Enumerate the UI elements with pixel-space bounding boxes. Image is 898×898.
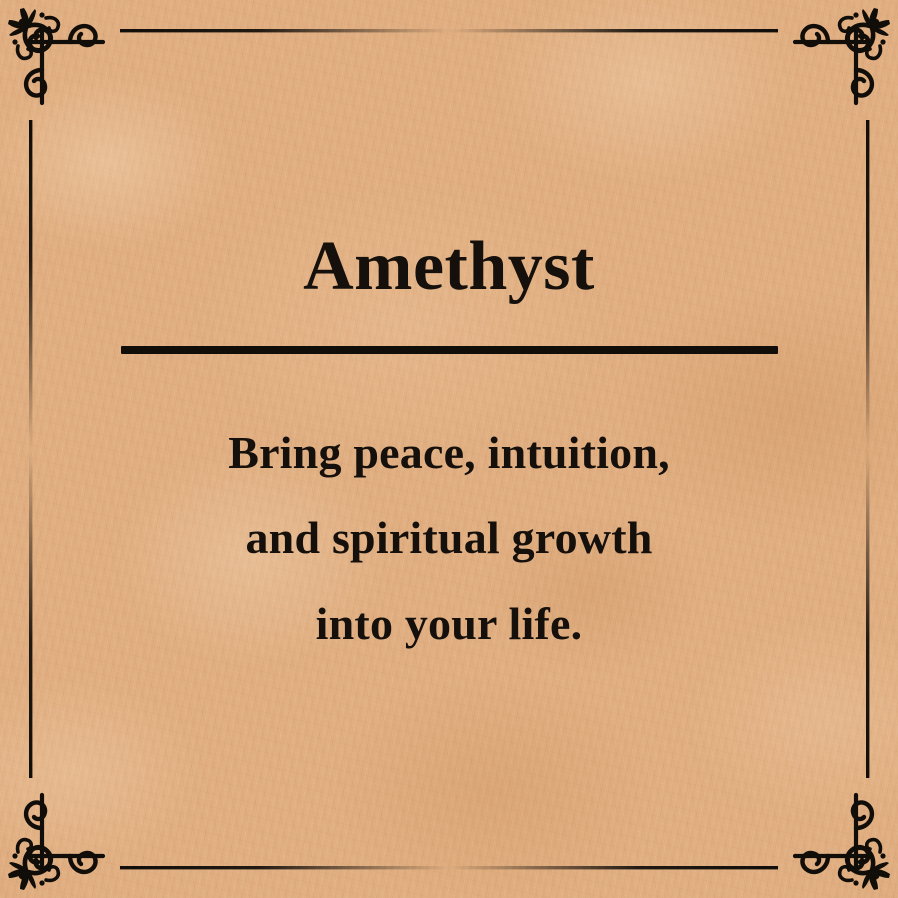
affirmation-card: Amethyst Bring peace, intuition, and spi… xyxy=(0,0,898,898)
affirmation-text: Bring peace, intuition, and spiritual gr… xyxy=(228,410,670,665)
affirmation-line-1: Bring peace, intuition, xyxy=(228,410,670,495)
page-title: Amethyst xyxy=(303,232,595,302)
card-content: Amethyst Bring peace, intuition, and spi… xyxy=(0,0,898,898)
title-divider xyxy=(121,346,778,354)
affirmation-line-2: and spiritual growth xyxy=(228,495,670,580)
affirmation-line-3: into your life. xyxy=(228,581,670,666)
